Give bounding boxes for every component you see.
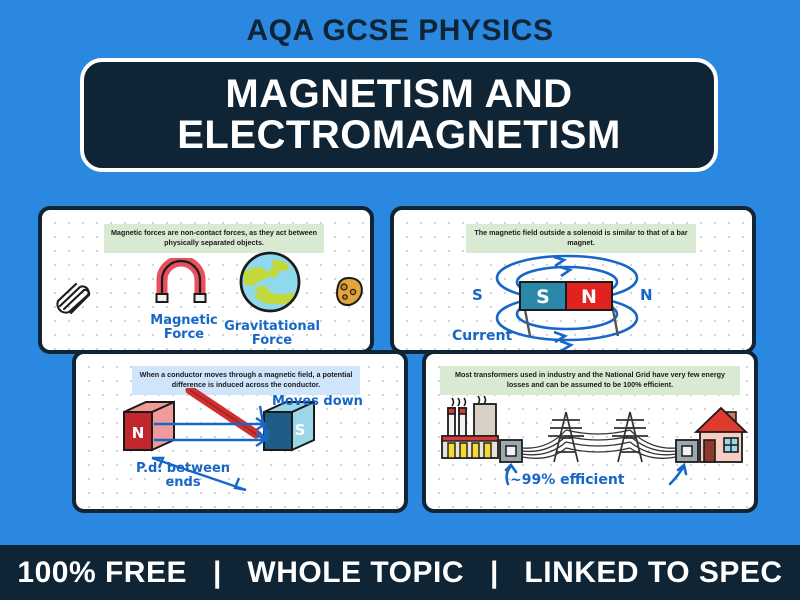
svg-text:S: S — [536, 286, 550, 308]
footer-separator-2: | — [490, 556, 498, 590]
magnet-cube-s-icon: S — [264, 402, 314, 450]
label-pd-between-ends: P.d. between ends — [128, 462, 238, 489]
footer-separator-1: | — [213, 556, 221, 590]
footer-item-linked-to-spec: LINKED TO SPEC — [524, 556, 782, 590]
label-south-pole: S — [472, 286, 483, 304]
preview-card-induced-pd[interactable]: When a conductor moves through a magneti… — [72, 350, 408, 513]
page-subtitle: AQA GCSE PHYSICS — [0, 14, 800, 48]
factory-icon — [442, 404, 498, 458]
label-moves-down: Moves down — [272, 394, 363, 409]
page-title-banner: MAGNETISM AND ELECTROMAGNETISM — [80, 58, 718, 172]
card-caption: Magnetic forces are non-contact forces, … — [104, 224, 324, 253]
label-magnetic-force: Magnetic Force — [142, 314, 226, 341]
magnet-cube-n-icon: N — [124, 402, 174, 450]
svg-text:N: N — [132, 424, 145, 442]
paperclip-icon — [54, 276, 96, 316]
label-north-pole: N — [640, 286, 653, 304]
footer-item-whole-topic: WHOLE TOPIC — [247, 556, 464, 590]
transformer-icon — [500, 440, 522, 462]
svg-text:S: S — [295, 421, 306, 439]
house-icon — [696, 408, 746, 462]
footer-banner: 100% FREE | WHOLE TOPIC | LINKED TO SPEC — [0, 545, 800, 600]
asteroid-icon — [332, 276, 364, 306]
preview-card-solenoid-field[interactable]: The magnetic field outside a solenoid is… — [390, 206, 756, 354]
page-title-line-1: MAGNETISM AND — [225, 74, 572, 115]
label-gravitational-force: Gravitational Force — [222, 320, 322, 347]
footer-item-free: 100% FREE — [17, 556, 187, 590]
horseshoe-magnet-icon — [154, 258, 208, 304]
conductor-rod-icon — [190, 390, 256, 434]
earth-globe-icon — [238, 250, 302, 314]
label-current: Current — [452, 328, 512, 344]
label-efficiency: ~99% efficient — [510, 472, 624, 488]
preview-card-transformers[interactable]: Most transformers used in industry and t… — [422, 350, 758, 513]
pylon-icon — [548, 412, 648, 462]
page-title-line-2: ELECTROMAGNETISM — [177, 115, 621, 156]
transformer-icon — [676, 440, 698, 462]
svg-text:N: N — [581, 286, 597, 308]
preview-card-magnetic-forces[interactable]: Magnetic forces are non-contact forces, … — [38, 206, 374, 354]
